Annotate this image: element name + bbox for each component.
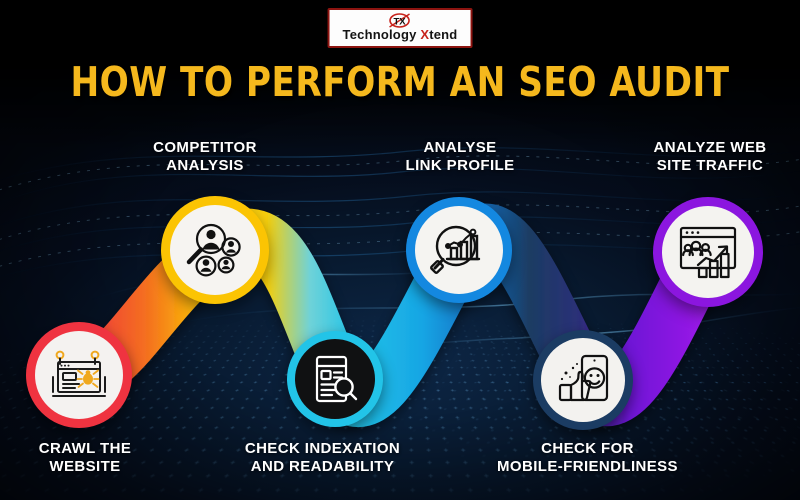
label-line-2: LINK PROFILE: [355, 157, 565, 175]
step-icon-disc: [35, 331, 123, 419]
browser-spider-crawl-icon: [49, 347, 109, 403]
svg-text:TX: TX: [394, 17, 407, 28]
step-icon-disc: [541, 338, 625, 422]
step-icon-disc: [170, 205, 260, 295]
brand-logo[interactable]: TX Technology Xtend: [328, 8, 473, 48]
label-line-1: CHECK INDEXATION: [215, 440, 430, 458]
step-icon-disc: [415, 206, 503, 294]
step-label-analyse-link-profile: ANALYSE LINK PROFILE: [355, 139, 565, 176]
step-node-analyse-link-profile[interactable]: [406, 197, 512, 303]
label-line-1: ANALYZE WEB: [615, 139, 800, 157]
step-label-competitor-analysis: COMPETITOR ANALYSIS: [90, 139, 320, 176]
step-label-check-for-mobile-friendliness: CHECK FOR MOBILE-FRIENDLINESS: [470, 440, 705, 477]
label-line-2: AND READABILITY: [215, 458, 430, 476]
step-label-crawl-the-website: CRAWL THE WEBSITE: [0, 440, 185, 477]
step-icon-disc: [662, 206, 754, 298]
document-magnifier-icon: [308, 352, 362, 406]
label-line-1: CRAWL THE: [0, 440, 185, 458]
page-title: HOW TO PERFORM AN SEO AUDIT: [28, 58, 772, 106]
brand-logo-text: Technology Xtend: [343, 28, 458, 41]
step-icon-disc: [295, 339, 375, 419]
step-node-check-indexation-and-readability[interactable]: [287, 331, 383, 427]
brand-suffix: tend: [429, 27, 457, 42]
label-line-2: SITE TRAFFIC: [615, 157, 800, 175]
label-line-2: ANALYSIS: [90, 157, 320, 175]
label-line-1: CHECK FOR: [470, 440, 705, 458]
infographic-poster: TX Technology Xtend HOW TO PERFORM AN SE…: [0, 0, 800, 500]
mobile-thumbs-up-smiley-icon: [554, 352, 612, 408]
browser-audience-growth-icon: [676, 223, 740, 281]
brand-prefix: Technology: [343, 27, 421, 42]
label-line-2: WEBSITE: [0, 458, 185, 476]
step-node-crawl-the-website[interactable]: [26, 322, 132, 428]
step-node-competitor-analysis[interactable]: [161, 196, 269, 304]
magnifier-bar-chart-icon: [429, 221, 489, 279]
label-line-2: MOBILE-FRIENDLINESS: [470, 458, 705, 476]
label-line-1: ANALYSE: [355, 139, 565, 157]
brand-accent-letter: X: [420, 27, 429, 42]
step-label-analyze-web-site-traffic: ANALYZE WEB SITE TRAFFIC: [615, 139, 800, 176]
step-label-check-indexation-and-readability: CHECK INDEXATION AND READABILITY: [215, 440, 430, 477]
step-node-analyze-web-site-traffic[interactable]: [653, 197, 763, 307]
step-node-check-for-mobile-friendliness[interactable]: [533, 330, 633, 430]
label-line-1: COMPETITOR: [90, 139, 320, 157]
magnifier-people-icon: [184, 221, 246, 279]
tx-mark-icon: TX: [343, 14, 458, 27]
